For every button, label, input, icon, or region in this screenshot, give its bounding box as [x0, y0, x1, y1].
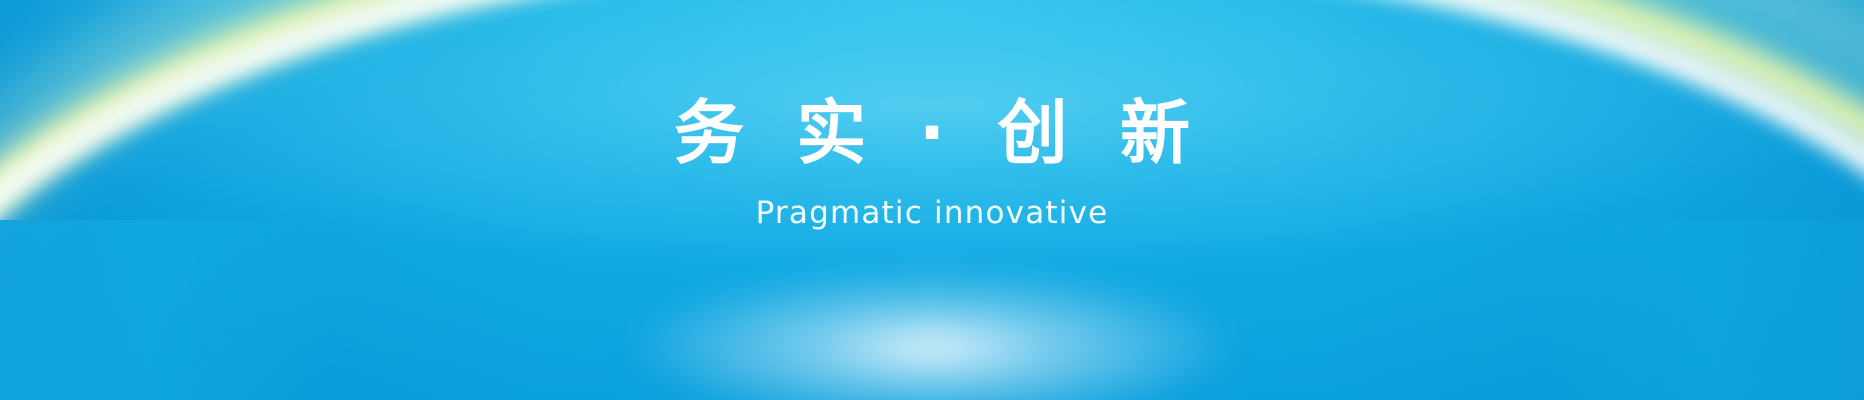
banner-headline: 务 实 · 创 新 — [660, 98, 1204, 168]
hero-banner: 务 实 · 创 新 Pragmatic innovative — [0, 0, 1864, 400]
banner-content: 务 实 · 创 新 Pragmatic innovative — [0, 0, 1864, 400]
banner-subtitle: Pragmatic innovative — [756, 198, 1109, 229]
